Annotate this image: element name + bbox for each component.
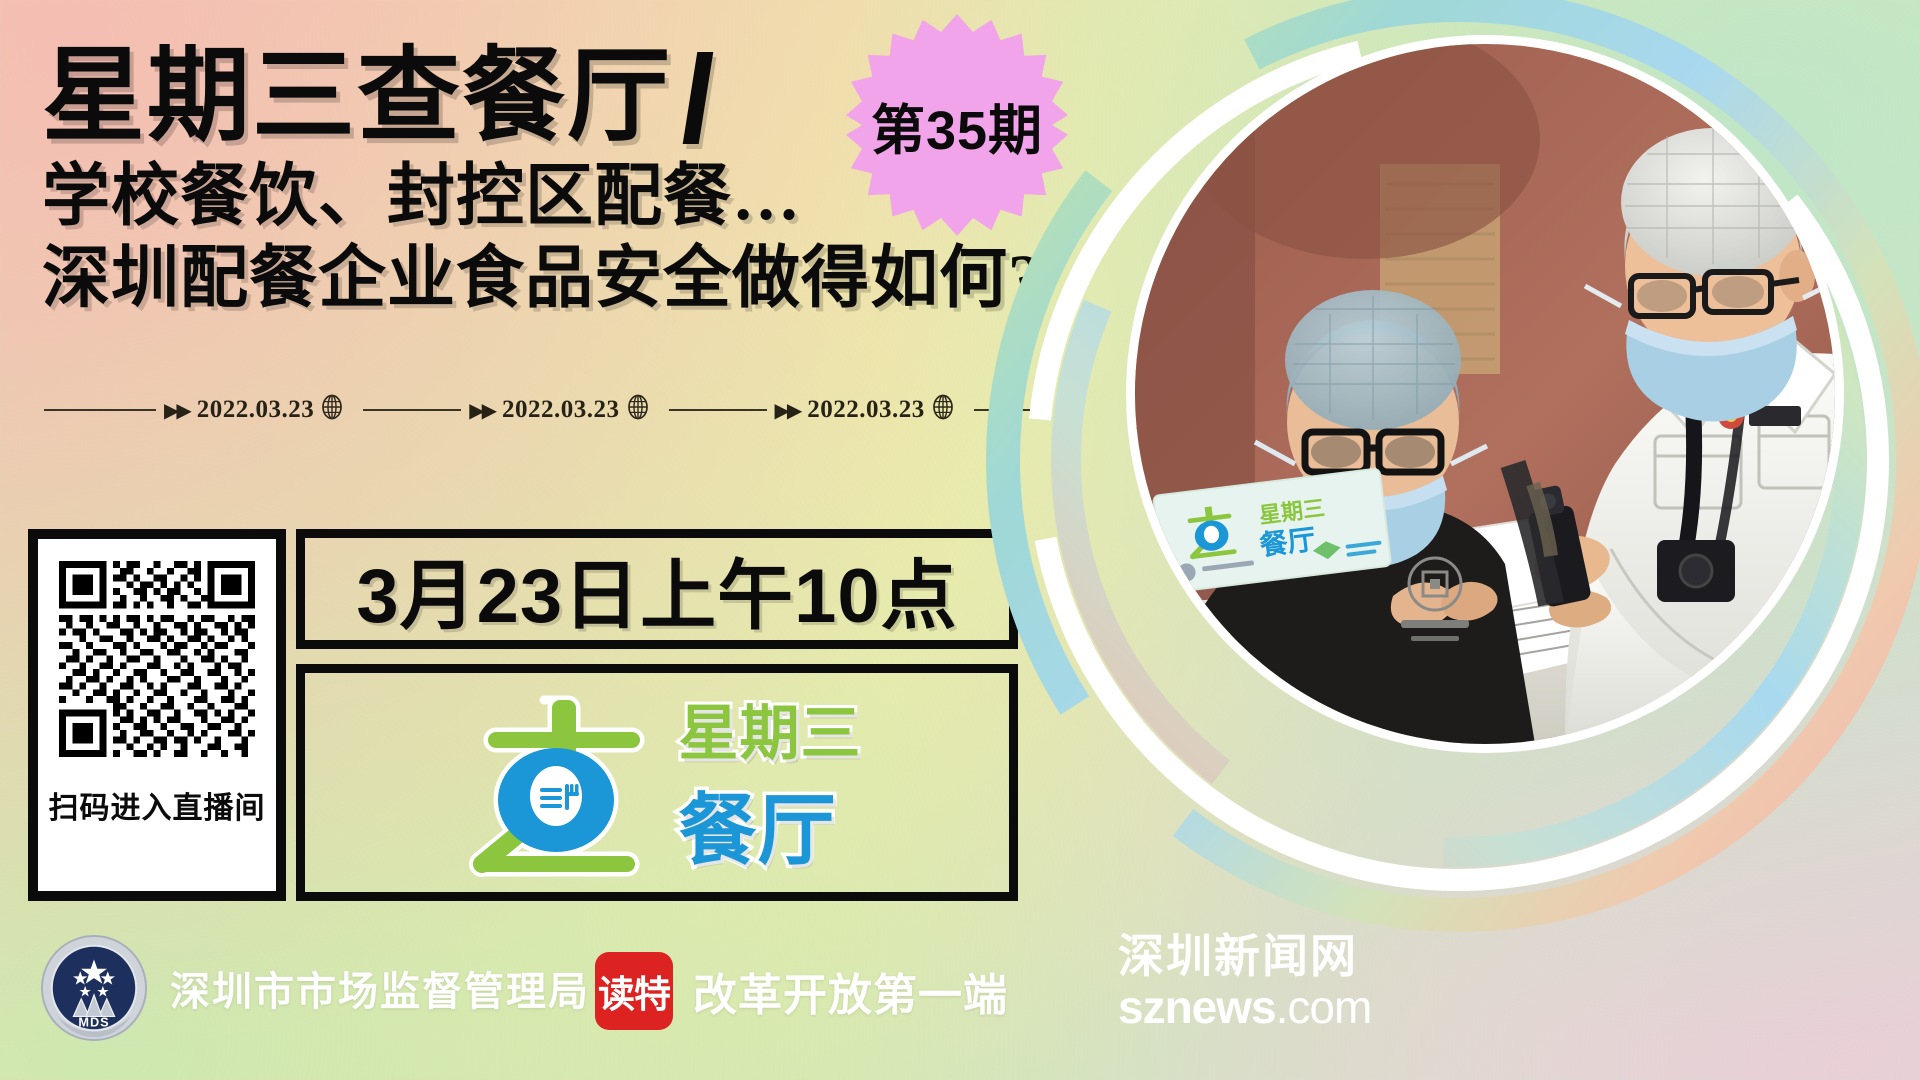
date-label-1: 2022.03.23 — [197, 396, 315, 424]
headline-main-text: 星期三查餐厅 — [42, 42, 672, 153]
footer-gov-org: MDS 深圳市市场监督管理局 — [40, 934, 590, 1042]
logo-line-2: 餐厅 — [679, 768, 862, 880]
svg-text:MDS: MDS — [78, 1014, 109, 1029]
date-strip: ▶▶ 2022.03.23 ▶▶ 2022.03.23 ▶▶ 2022.03.2… — [44, 393, 1049, 427]
qr-code-icon[interactable] — [59, 561, 255, 757]
gov-org-name: 深圳市市场监督管理局 — [170, 959, 590, 1017]
dute-logo-icon: 读特 — [595, 952, 673, 1030]
inspection-photo: 星期三 餐厅 — [1135, 44, 1835, 744]
globe-icon — [319, 394, 345, 427]
program-logo-box: 星期三 餐厅 — [296, 664, 1018, 901]
double-arrow-icon: ▶▶ — [469, 398, 494, 423]
rule-icon — [363, 409, 461, 411]
photo-area: 星期三 餐厅 — [1020, 0, 1920, 1080]
qr-panel[interactable]: 扫码进入直播间 — [28, 529, 286, 901]
broadcast-time-label: 3月23日上午10点 — [356, 534, 957, 644]
globe-icon — [930, 394, 956, 427]
cha-magnifier-logo-icon — [441, 688, 671, 878]
broadcast-time-box: 3月23日上午10点 — [296, 529, 1018, 649]
left-column: 星期三查餐厅 学校餐饮、封控区配餐… 深圳配餐企业食品安全做得如何? 第35期 … — [0, 0, 1120, 1080]
issue-number-label: 第35期 — [871, 86, 1043, 165]
footer-dute-brand: 读特 改革开放第一端 — [595, 952, 1008, 1030]
rule-icon — [44, 409, 156, 411]
double-arrow-icon: ▶▶ — [164, 398, 189, 423]
date-label-3: 2022.03.23 — [807, 396, 925, 424]
double-arrow-icon: ▶▶ — [775, 398, 800, 423]
logo-line-1: 星期三 — [679, 685, 862, 772]
date-label-2: 2022.03.23 — [502, 396, 620, 424]
dute-slogan: 改革开放第一端 — [693, 959, 1008, 1023]
subtitle-line-2: 深圳配餐企业食品安全做得如何? — [42, 239, 1082, 319]
mds-emblem-icon: MDS — [40, 934, 148, 1042]
headline-separator-bar — [683, 52, 714, 144]
qr-caption: 扫码进入直播间 — [49, 783, 266, 827]
inspection-photo-illustration: 星期三 餐厅 — [1135, 44, 1835, 744]
globe-icon — [625, 394, 651, 427]
program-logo: 星期三 餐厅 — [441, 685, 862, 880]
rule-icon — [669, 409, 767, 411]
